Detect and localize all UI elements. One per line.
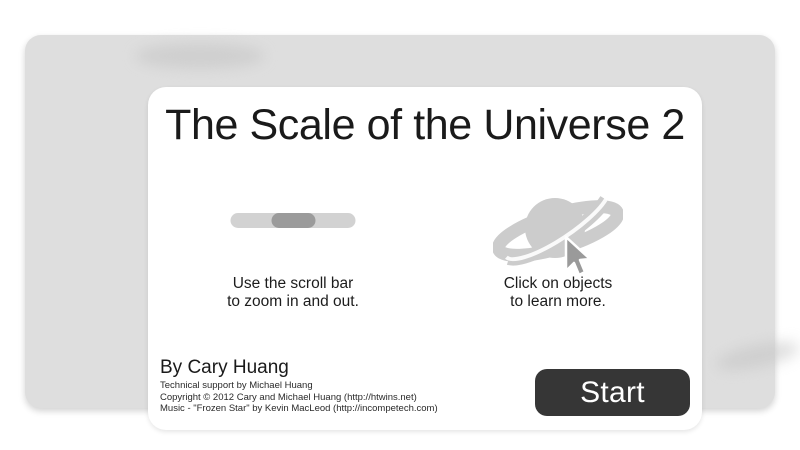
click-objects-caption-line-1: Click on objects xyxy=(438,275,678,293)
feature-scrollbar: Use the scroll bar to zoom in and out. xyxy=(173,183,413,311)
background-smudge-top xyxy=(135,43,265,69)
intro-card: The Scale of the Universe 2 Use the scro… xyxy=(148,87,702,430)
scrollbar-caption-line-1: Use the scroll bar xyxy=(173,275,413,293)
page-title: The Scale of the Universe 2 xyxy=(148,101,702,150)
scrollbar-icon xyxy=(231,213,356,228)
credits-copyright: Copyright © 2012 Cary and Michael Huang … xyxy=(160,392,500,404)
click-objects-caption-line-2: to learn more. xyxy=(438,293,678,311)
planet-art xyxy=(438,183,678,275)
click-objects-caption: Click on objects to learn more. xyxy=(438,275,678,311)
credits: By Cary Huang Technical support by Micha… xyxy=(160,357,500,415)
scrollbar-caption-line-2: to zoom in and out. xyxy=(173,293,413,311)
scrollbar-caption: Use the scroll bar to zoom in and out. xyxy=(173,275,413,311)
scrollbar-thumb[interactable] xyxy=(272,213,316,228)
credits-technical-support: Technical support by Michael Huang xyxy=(160,380,500,392)
start-button[interactable]: Start xyxy=(535,369,690,416)
credits-music: Music - "Frozen Star" by Kevin MacLeod (… xyxy=(160,403,500,415)
credits-author: By Cary Huang xyxy=(160,357,500,379)
planet-cursor-icon xyxy=(493,185,623,277)
outer-panel: The Scale of the Universe 2 Use the scro… xyxy=(25,35,775,408)
feature-click-objects: Click on objects to learn more. xyxy=(438,183,678,311)
background-smudge-bottom xyxy=(714,336,800,375)
scrollbar-art xyxy=(173,183,413,275)
